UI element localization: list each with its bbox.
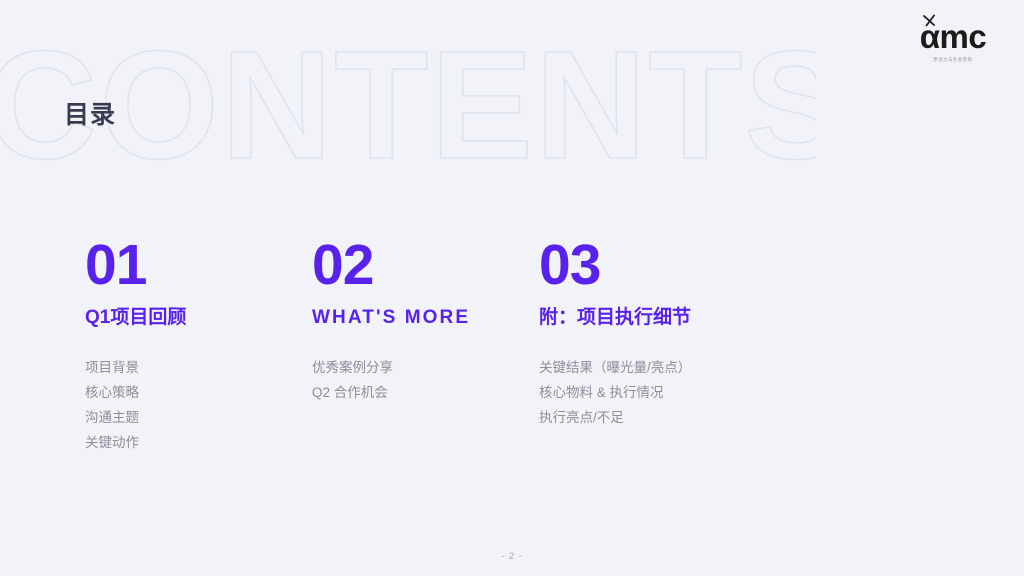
agenda-items-03: 关键结果（曝光量/亮点） 核心物料 & 执行情况 执行亮点/不足 <box>539 355 839 430</box>
slide-canvas: CONTENTS 目录 αmc 原创力与社会营销 01 Q1项目回顾 项目背景 … <box>0 0 1024 576</box>
brand-logo: αmc 原创力与社会营销 <box>910 18 996 63</box>
x-tick-icon <box>922 14 938 28</box>
list-item[interactable]: Q2 合作机会 <box>312 380 539 405</box>
agenda-heading-03[interactable]: 附：项目执行细节 <box>539 307 839 330</box>
agenda-items-02: 优秀案例分享 Q2 合作机会 <box>312 355 539 405</box>
agenda-column-03: 03 附：项目执行细节 关键结果（曝光量/亮点） 核心物料 & 执行情况 执行亮… <box>539 236 839 471</box>
page-title: 目录 <box>64 103 116 128</box>
watermark-text: CONTENTS <box>0 36 816 186</box>
agenda-items-01: 项目背景 核心策略 沟通主题 关键动作 <box>85 355 312 455</box>
list-item[interactable]: 核心物料 & 执行情况 <box>539 380 839 405</box>
agenda-heading-01[interactable]: Q1项目回顾 <box>85 307 312 330</box>
agenda-number-03: 03 <box>539 236 839 295</box>
list-item[interactable]: 核心策略 <box>85 380 312 405</box>
list-item[interactable]: 项目背景 <box>85 355 312 380</box>
agenda-column-01: 01 Q1项目回顾 项目背景 核心策略 沟通主题 关键动作 <box>85 236 312 471</box>
agenda-heading-02[interactable]: WHAT'S MORE <box>312 307 539 330</box>
watermark-svg: CONTENTS <box>0 36 816 186</box>
contents-watermark: CONTENTS <box>0 36 816 186</box>
agenda-number-02: 02 <box>312 236 539 295</box>
agenda-column-02: 02 WHAT'S MORE 优秀案例分享 Q2 合作机会 <box>312 236 539 471</box>
logo-subtext: 原创力与社会营销 <box>910 57 996 64</box>
list-item[interactable]: 沟通主题 <box>85 405 312 430</box>
logo-wordmark-wrap: αmc <box>910 18 996 56</box>
list-item[interactable]: 关键结果（曝光量/亮点） <box>539 355 839 380</box>
agenda-columns: 01 Q1项目回顾 项目背景 核心策略 沟通主题 关键动作 02 WHAT'S … <box>85 236 895 471</box>
page-number: - 2 - <box>0 551 1024 562</box>
list-item[interactable]: 优秀案例分享 <box>312 355 539 380</box>
list-item[interactable]: 关键动作 <box>85 430 312 455</box>
list-item[interactable]: 执行亮点/不足 <box>539 405 839 430</box>
agenda-number-01: 01 <box>85 236 312 295</box>
